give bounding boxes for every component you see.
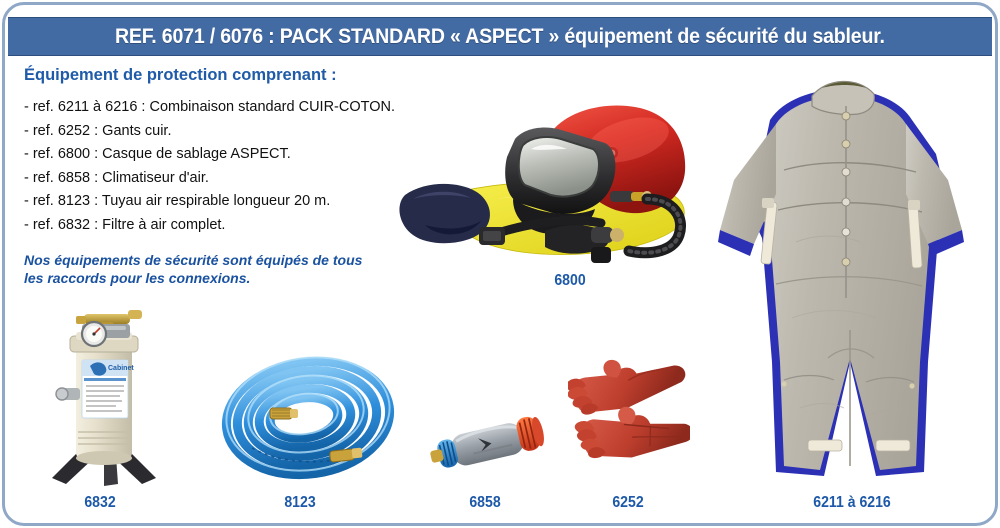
tuyau-illustration bbox=[218, 352, 398, 490]
list-item: - ref. 6858 : Climatiseur d'air. bbox=[24, 167, 424, 191]
caption-6800: 6800 bbox=[526, 272, 614, 290]
list-item: - ref. 6800 : Casque de sablage ASPECT. bbox=[24, 143, 424, 167]
climatiseur-illustration: CLIMATISEUR bbox=[428, 398, 550, 488]
list-item: - ref. 6211 à 6216 : Combinaison standar… bbox=[24, 96, 424, 120]
spec-heading: Équipement de protection comprenant : bbox=[24, 66, 424, 85]
product-image-filtre-a-air: Cabinet bbox=[42, 296, 167, 488]
equipment-spec-block: Équipement de protection comprenant : - … bbox=[24, 66, 424, 237]
catalog-page: REF. 6071 / 6076 : PACK STANDARD « ASPEC… bbox=[0, 0, 1000, 528]
caption-6252: 6252 bbox=[584, 494, 672, 512]
connection-note-line2: les raccords pour les connexions. bbox=[24, 269, 404, 287]
connection-note-line1: Nos équipements de sécurité sont équipés… bbox=[24, 251, 404, 269]
filtre-a-air-illustration: Cabinet bbox=[42, 296, 167, 488]
header-band: REF. 6071 / 6076 : PACK STANDARD « ASPEC… bbox=[8, 17, 992, 56]
list-item: - ref. 6832 : Filtre à air complet. bbox=[24, 214, 424, 238]
product-image-casque-de-sablage bbox=[395, 95, 695, 270]
gants-illustration bbox=[568, 352, 690, 490]
casque-de-sablage-illustration bbox=[395, 95, 695, 270]
connection-note: Nos équipements de sécurité sont équipés… bbox=[24, 251, 404, 287]
svg-text:Cabinet: Cabinet bbox=[108, 365, 134, 372]
caption-6211-a-6216: 6211 à 6216 bbox=[790, 494, 913, 512]
combinaison-illustration bbox=[700, 62, 980, 487]
product-image-climatiseur-d-air: CLIMATISEUR bbox=[428, 398, 550, 488]
spec-list: - ref. 6211 à 6216 : Combinaison standar… bbox=[24, 96, 424, 237]
caption-8123: 8123 bbox=[256, 494, 344, 512]
product-image-combinaison-standard bbox=[700, 62, 980, 487]
caption-6832: 6832 bbox=[56, 494, 144, 512]
page-title: REF. 6071 / 6076 : PACK STANDARD « ASPEC… bbox=[115, 25, 885, 49]
product-image-tuyau-air-respirable bbox=[218, 352, 398, 490]
caption-6858: 6858 bbox=[441, 494, 529, 512]
list-item: - ref. 6252 : Gants cuir. bbox=[24, 120, 424, 144]
product-image-gants-cuir bbox=[568, 352, 690, 490]
list-item: - ref. 8123 : Tuyau air respirable longu… bbox=[24, 190, 424, 214]
